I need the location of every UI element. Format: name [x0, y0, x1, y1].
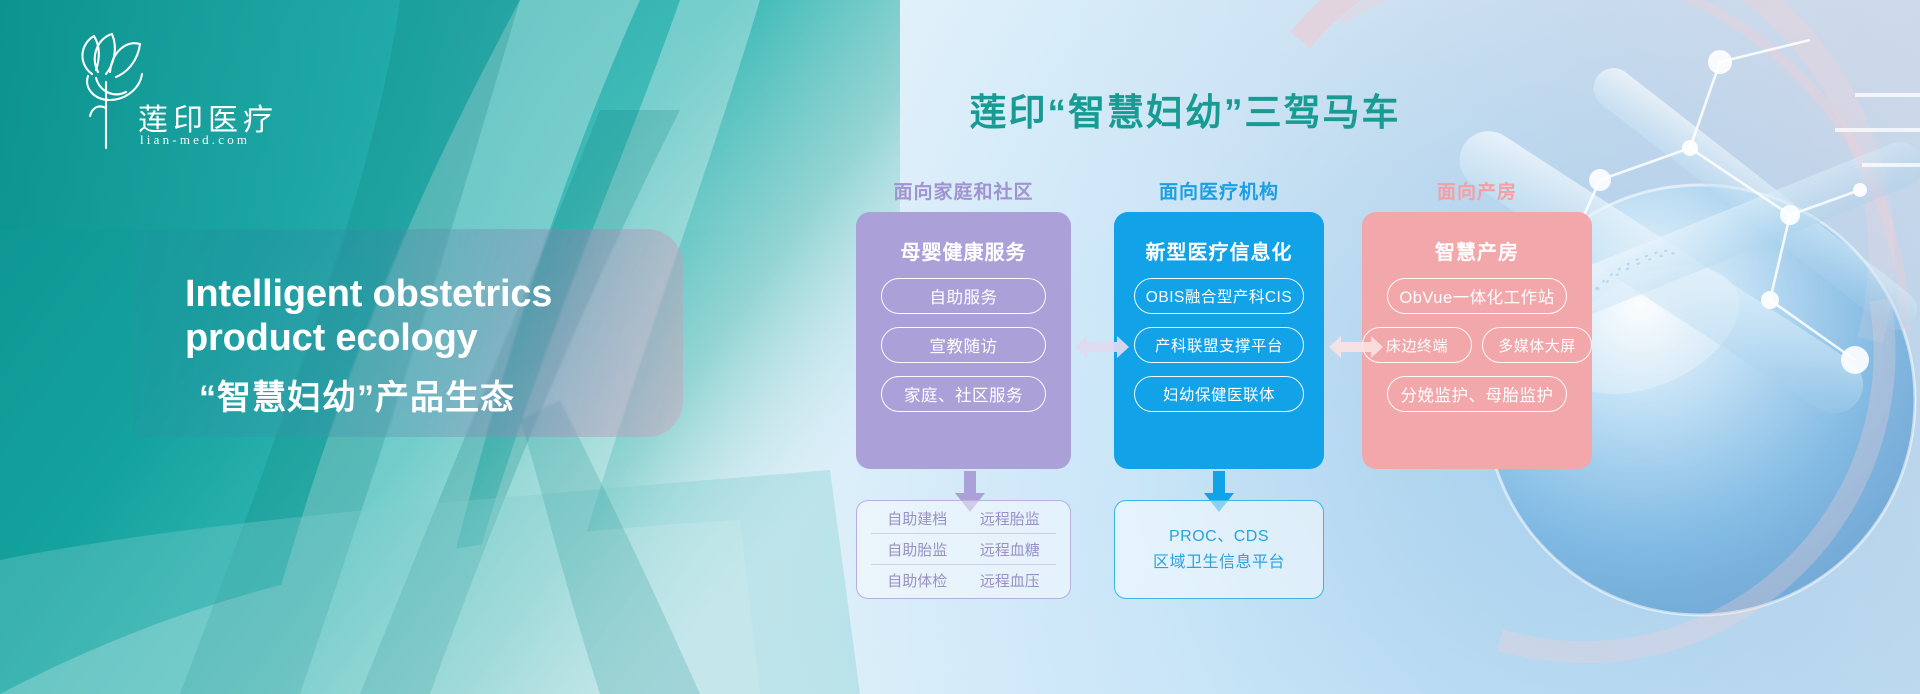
pill-row: 床边终端 多媒体大屏 [1362, 327, 1592, 363]
cell-self-fetal-monitor: 自助胎监 [871, 539, 964, 560]
cell-self-physical-exam: 自助体检 [871, 570, 964, 591]
column-caption-delivery-room: 面向产房 [1362, 177, 1592, 204]
column-caption-institution: 面向医疗机构 [1114, 177, 1324, 204]
pill-maternal-child-alliance[interactable]: 妇幼保健医联体 [1134, 376, 1304, 412]
left-panel-text: Intelligent obstetrics product ecology “… [185, 272, 655, 419]
double-headed-arrow-icon [1327, 332, 1385, 362]
card-title: 智慧产房 [1362, 236, 1592, 265]
page-title: 莲印“智慧妇幼”三驾马车 [865, 82, 1505, 136]
pill-self-service[interactable]: 自助服务 [881, 278, 1046, 314]
table-row: 自助建档 远程胎监 [871, 503, 1056, 534]
pill-labor-fetal-monitoring[interactable]: 分娩监护、母胎监护 [1387, 376, 1567, 412]
title-chinese: “智慧妇幼”产品生态 [199, 370, 655, 419]
logo-website: lian-med.com [140, 132, 250, 148]
footer-box-self-service-grid[interactable]: 自助建档 远程胎监 自助胎监 远程血糖 自助体检 远程血压 [856, 500, 1071, 599]
cell-remote-blood-glucose: 远程血糖 [964, 539, 1057, 560]
double-headed-arrow-icon [1073, 332, 1131, 362]
card-maternal-health-service[interactable]: 母婴健康服务 自助服务 宣教随访 家庭、社区服务 [856, 212, 1071, 469]
pill-obstetric-alliance-platform[interactable]: 产科联盟支撑平台 [1134, 327, 1304, 363]
pill-family-community-service[interactable]: 家庭、社区服务 [881, 376, 1046, 412]
pill-multimedia-screen[interactable]: 多媒体大屏 [1482, 327, 1592, 363]
pill-obis-cis[interactable]: OBIS融合型产科CIS [1134, 278, 1304, 314]
cell-remote-fetal-monitor: 远程胎监 [964, 508, 1057, 529]
footer-box-regional-platform[interactable]: PROC、CDS 区域卫生信息平台 [1114, 500, 1324, 599]
footer-line-proc-cds: PROC、CDS [1169, 524, 1269, 550]
cell-self-registration: 自助建档 [871, 508, 964, 529]
company-logo: 莲印医疗 lian-med.com [60, 22, 280, 142]
footer-line-regional-platform: 区域卫生信息平台 [1153, 550, 1285, 576]
pill-education-followup[interactable]: 宣教随访 [881, 327, 1046, 363]
table-row: 自助胎监 远程血糖 [871, 534, 1056, 565]
cell-remote-blood-pressure: 远程血压 [964, 570, 1057, 591]
title-english: Intelligent obstetrics product ecology [185, 272, 655, 360]
table-row: 自助体检 远程血压 [871, 565, 1056, 596]
card-smart-delivery-room[interactable]: 智慧产房 ObVue一体化工作站 床边终端 多媒体大屏 分娩监护、母胎监护 [1362, 212, 1592, 469]
card-medical-informatization[interactable]: 新型医疗信息化 OBIS融合型产科CIS 产科联盟支撑平台 妇幼保健医联体 [1114, 212, 1324, 469]
card-title: 新型医疗信息化 [1114, 236, 1324, 265]
card-title: 母婴健康服务 [856, 236, 1071, 265]
pill-obvue-workstation[interactable]: ObVue一体化工作站 [1387, 278, 1567, 314]
column-caption-family: 面向家庭和社区 [856, 177, 1071, 204]
